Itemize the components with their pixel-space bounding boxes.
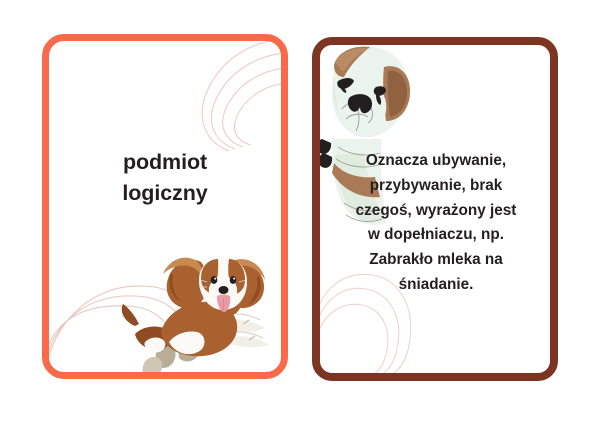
running-spaniel-dog-illustration <box>117 238 281 372</box>
swirl-lines-top-right-icon <box>155 41 281 155</box>
definition-line-3: czegoś, wyrażony jest <box>334 199 538 224</box>
definition-line-4: w dopełniaczu, np. <box>334 223 538 248</box>
term-title-line-1: podmiot <box>49 147 281 178</box>
definition-line-2: przybywanie, brak <box>334 174 538 199</box>
term-card-inner: podmiot logiczny <box>49 41 281 372</box>
definition-line-5: Zabrakło mleka na <box>334 248 538 273</box>
term-title-line-2: logiczny <box>49 178 281 209</box>
definition-line-6: śniadanie. <box>334 273 538 298</box>
definition-text: Oznacza ubywanie, przybywanie, brak czeg… <box>334 149 538 298</box>
definition-line-1: Oznacza ubywanie, <box>334 149 538 174</box>
term-title: podmiot logiczny <box>49 147 281 208</box>
flashcard-canvas: podmiot logiczny <box>0 0 600 424</box>
swirl-lines-bottom-left-icon <box>49 260 207 370</box>
definition-card[interactable]: Oznacza ubywanie, przybywanie, brak czeg… <box>312 37 558 381</box>
definition-card-inner: Oznacza ubywanie, przybywanie, brak czeg… <box>320 45 550 373</box>
term-card[interactable]: podmiot logiczny <box>42 34 288 379</box>
